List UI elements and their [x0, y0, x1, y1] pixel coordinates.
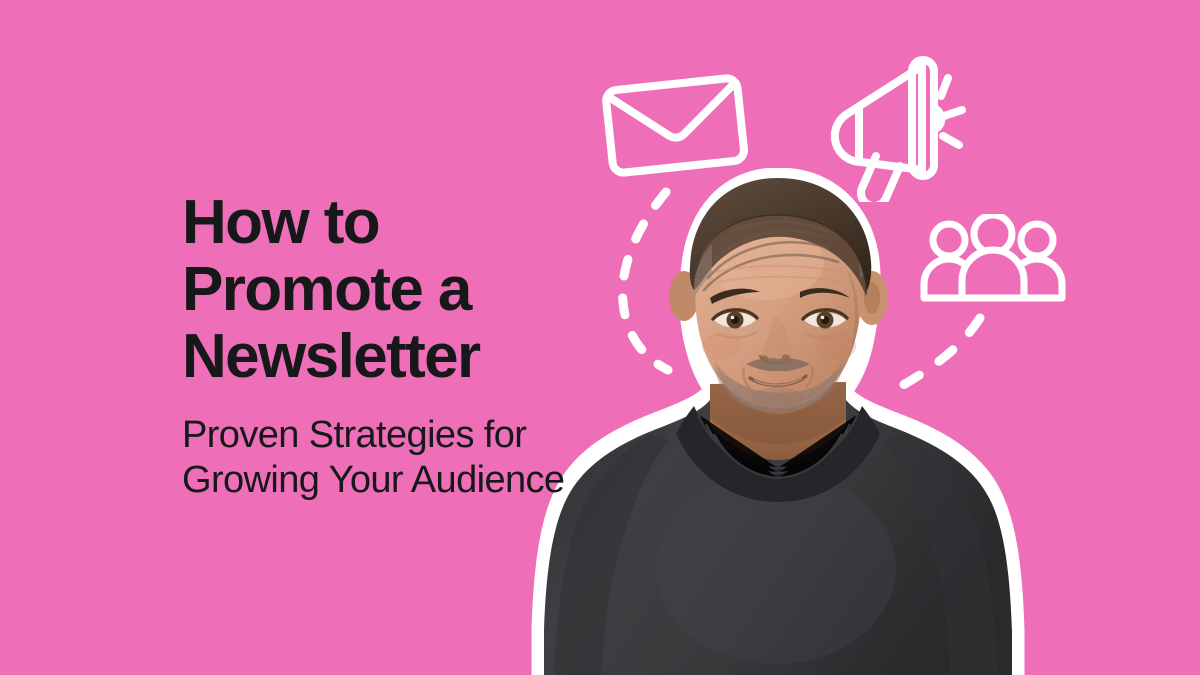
promo-banner: How to Promote a Newsletter Proven Strat… — [0, 0, 1200, 675]
envelope-icon — [600, 72, 750, 182]
people-group-icon — [918, 214, 1068, 311]
megaphone-icon — [826, 52, 971, 207]
dashed-arc-right — [868, 296, 1018, 411]
dashed-arc-left — [600, 178, 690, 383]
page-subtitle: Proven Strategies for Growing Your Audie… — [182, 413, 602, 503]
page-title: How to Promote a Newsletter — [182, 190, 602, 391]
text-block: How to Promote a Newsletter Proven Strat… — [182, 190, 602, 503]
